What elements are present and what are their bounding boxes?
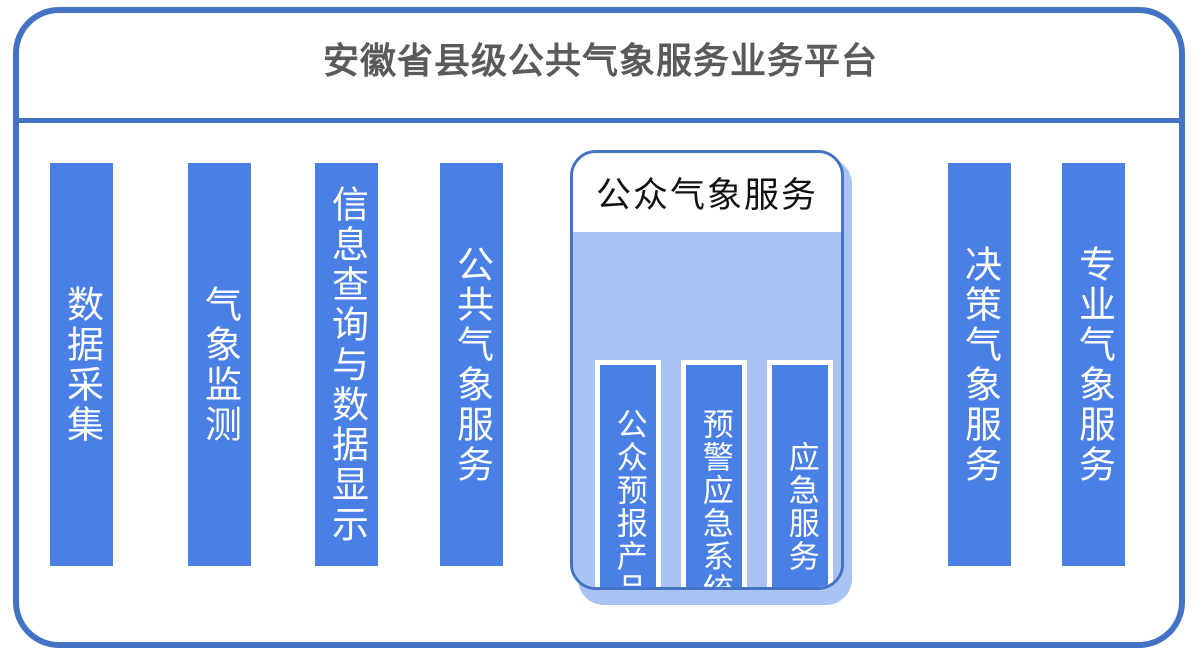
pillar-professional-weather-service[interactable]: 专业气象服务 <box>1062 163 1125 566</box>
title-divider <box>16 118 1185 123</box>
inner-pillar-label-warning-emergency-system: 预警应急系统 <box>697 408 730 591</box>
inner-pillar-label-public-forecast-products: 公众预报产品 <box>611 408 644 591</box>
center-group-header-label: 公众气象服务 <box>596 167 818 218</box>
pillar-info-query-data-display[interactable]: 信息查询与数据显示 <box>315 163 378 566</box>
pillar-label-weather-monitoring: 气象监测 <box>200 285 240 445</box>
inner-pillar-label-emergency-service: 应急服务 <box>783 441 816 573</box>
diagram-canvas: 安徽省县级公共气象服务业务平台 数据采集 气象监测 信息查询与数据显示 公共气象… <box>0 0 1201 658</box>
pillar-label-info-query-data-display: 信息查询与数据显示 <box>327 185 367 545</box>
center-group-header: 公众气象服务 <box>573 153 841 232</box>
inner-pillar-public-forecast-products[interactable]: 公众预报产品 <box>595 360 661 590</box>
pillar-label-public-weather-service: 公共气象服务 <box>452 245 492 485</box>
pillar-decision-weather-service[interactable]: 决策气象服务 <box>948 163 1011 566</box>
platform-title: 安徽省县级公共气象服务业务平台 <box>0 38 1201 86</box>
pillar-data-collection[interactable]: 数据采集 <box>50 163 113 566</box>
pillar-label-professional-weather-service: 专业气象服务 <box>1074 245 1114 485</box>
center-group-public-weather-service[interactable]: 公众气象服务 公众预报产品 预警应急系统 应急服务 <box>570 150 844 590</box>
inner-pillar-emergency-service[interactable]: 应急服务 <box>767 360 833 590</box>
inner-pillar-warning-emergency-system[interactable]: 预警应急系统 <box>681 360 747 590</box>
center-group-body: 公众预报产品 预警应急系统 应急服务 <box>573 232 841 587</box>
pillar-public-weather-service[interactable]: 公共气象服务 <box>440 163 503 566</box>
pillar-weather-monitoring[interactable]: 气象监测 <box>188 163 251 566</box>
pillar-label-decision-weather-service: 决策气象服务 <box>960 245 1000 485</box>
pillar-label-data-collection: 数据采集 <box>62 285 102 445</box>
